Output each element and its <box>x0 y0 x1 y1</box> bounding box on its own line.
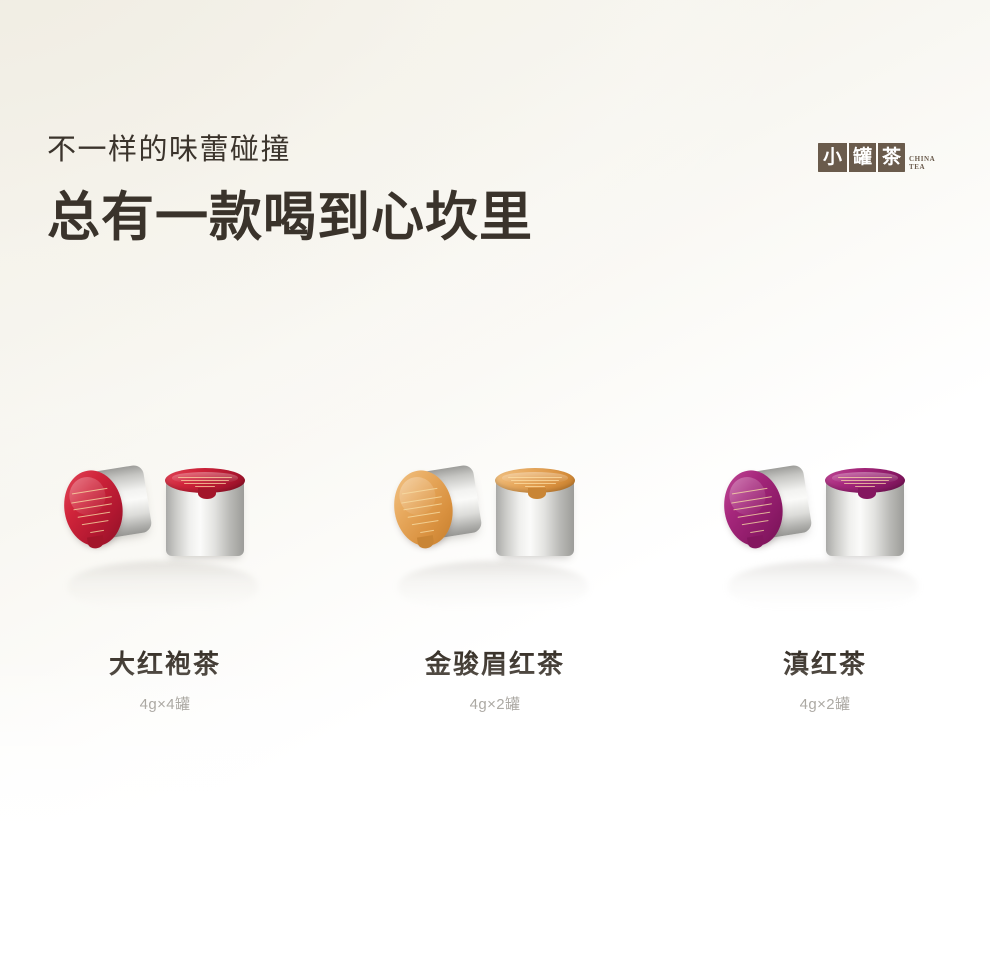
product-image-1 <box>50 455 280 605</box>
logo-mark: 小 罐 茶 <box>818 143 905 172</box>
product-card-2[interactable]: 金骏眉红茶 4g×2罐 <box>330 455 660 745</box>
page-background: 不一样的味蕾碰撞 总有一款喝到心坎里 小 罐 茶 CHINA TEA <box>0 0 990 953</box>
product-row: 大红袍茶 4g×4罐 <box>0 455 990 745</box>
tea-can-tilted <box>389 464 473 547</box>
product-name: 滇红茶 <box>783 649 867 679</box>
product-card-1[interactable]: 大红袍茶 4g×4罐 <box>0 455 330 745</box>
can-pull-tab <box>417 535 435 549</box>
product-name: 大红袍茶 <box>109 649 221 679</box>
page-header: 不一样的味蕾碰撞 总有一款喝到心坎里 小 罐 茶 CHINA TEA <box>0 0 990 300</box>
can-reflection <box>728 561 918 609</box>
tea-can-tilted <box>59 464 143 547</box>
product-spec: 4g×2罐 <box>800 696 851 714</box>
logo-char-3: 茶 <box>876 143 905 172</box>
product-name: 金骏眉红茶 <box>425 649 565 679</box>
product-card-3[interactable]: 滇红茶 4g×2罐 <box>660 455 990 745</box>
can-pull-tab <box>858 488 876 499</box>
tea-can-upright <box>826 478 904 556</box>
tea-can-upright <box>166 478 244 556</box>
product-spec: 4g×2罐 <box>470 696 521 714</box>
can-pull-tab <box>747 535 765 549</box>
logo-subtitle-line2: TEA <box>909 163 935 171</box>
logo-char-2: 罐 <box>847 143 876 172</box>
headline-kicker: 不一样的味蕾碰撞 <box>47 133 533 167</box>
can-pull-tab <box>87 535 105 549</box>
product-spec: 4g×4罐 <box>140 696 191 714</box>
headline-block: 不一样的味蕾碰撞 总有一款喝到心坎里 <box>47 133 533 248</box>
can-reflection <box>68 561 258 609</box>
tea-can-upright <box>496 478 574 556</box>
can-reflection <box>398 561 588 609</box>
logo-subtitle: CHINA TEA <box>909 155 935 171</box>
brand-logo: 小 罐 茶 CHINA TEA <box>818 143 935 172</box>
logo-char-1: 小 <box>818 143 847 172</box>
can-pull-tab <box>198 488 216 499</box>
can-pull-tab <box>528 488 546 499</box>
product-image-2 <box>380 455 610 605</box>
tea-can-tilted <box>719 464 803 547</box>
logo-subtitle-line1: CHINA <box>909 155 935 163</box>
product-image-3 <box>710 455 940 605</box>
page-title: 总有一款喝到心坎里 <box>47 188 533 248</box>
